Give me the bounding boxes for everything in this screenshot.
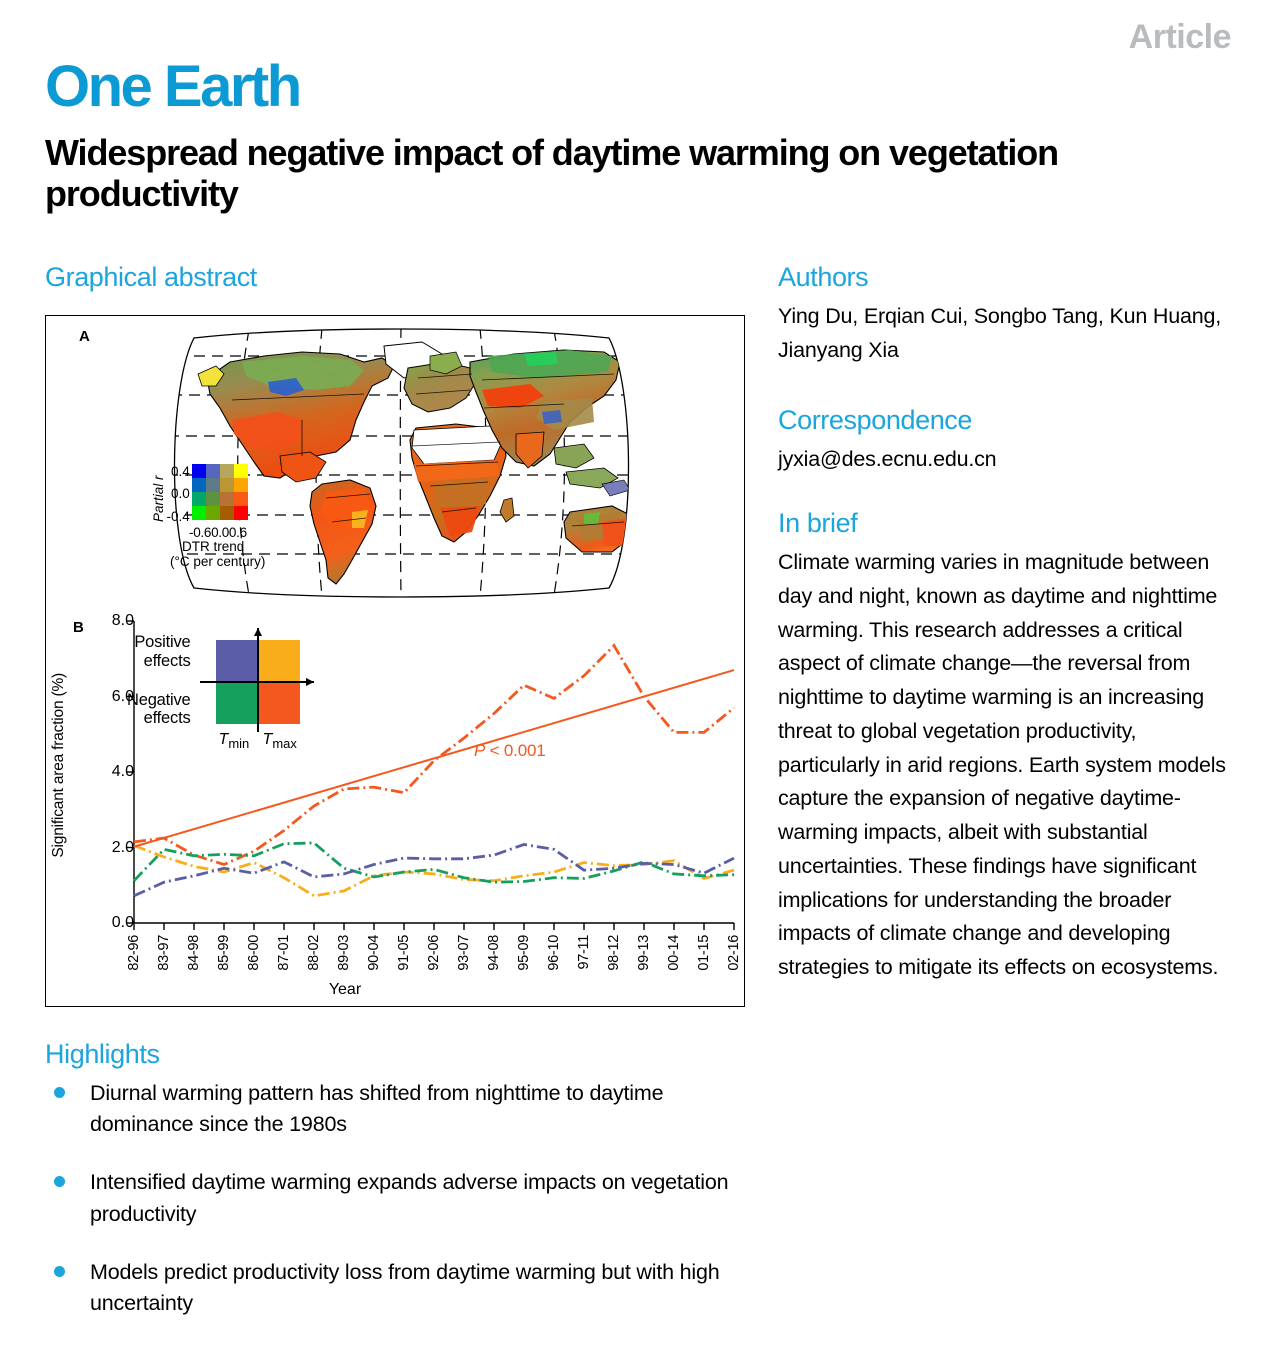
map-landmass-new-zealand [646, 550, 660, 570]
x-tick-label: 96-10 [546, 935, 562, 971]
section-heading-authors: Authors [778, 262, 868, 293]
legend-negative-line1: Negative [127, 691, 191, 709]
legend-cell-r0-c1 [206, 464, 220, 478]
arrow-right-icon [306, 678, 314, 686]
x-tick-label: 87-01 [276, 935, 292, 971]
legend-cell-r1-c3 [234, 478, 248, 492]
legend-x-ticks: -0.60.00.6 [189, 525, 342, 540]
bullet-icon [54, 1266, 65, 1277]
x-tick-label: 90-04 [366, 935, 382, 971]
in-brief-paragraph: Climate warming varies in magnitude betw… [778, 546, 1240, 985]
series-line [134, 844, 734, 895]
legend-cell-r0-c0 [192, 464, 206, 478]
section-heading-correspondence: Correspondence [778, 405, 972, 436]
legend-cell-r2-c1 [206, 492, 220, 506]
highlight-text: Intensified daytime warming expands adve… [90, 1170, 728, 1225]
swatch-tmin-positive [216, 640, 258, 682]
legend-tmax-label: Tmax [263, 731, 297, 751]
list-item: Models predict productivity loss from da… [45, 1257, 765, 1319]
legend-y-tick: 0.4 [167, 465, 190, 479]
legend-y-ticks: 0.4 0.0 -0.4 [167, 464, 190, 523]
legend-positive-line1: Positive [127, 633, 191, 651]
list-item: Intensified daytime warming expands adve… [45, 1167, 765, 1229]
x-tick-label: 95-09 [516, 935, 532, 971]
x-tick-label: 02-16 [726, 935, 742, 971]
x-tick-label: 85-99 [216, 935, 232, 971]
x-tick-label: 94-08 [486, 935, 502, 971]
legend-cell-r1-c0 [192, 478, 206, 492]
panel-a-world-map: Partial r 0.4 0.0 -0.4 -0.60.00.6 DTR tr… [64, 316, 724, 611]
section-heading-in-brief: In brief [778, 508, 857, 539]
map-region-tibet [542, 410, 562, 424]
map-region-australia-green [584, 512, 600, 524]
chart-x-axis-label: Year [0, 981, 694, 999]
swatch-tmax-positive [258, 640, 300, 682]
correspondence-email[interactable]: jyxia@des.ecnu.edu.cn [778, 443, 1240, 477]
chart-x-tickmarks [134, 923, 734, 930]
chart-quadrant-legend: Positive effects [126, 623, 319, 738]
section-heading-graphical-abstract: Graphical abstract [45, 262, 257, 293]
legend-caption-units: (°C per century) [170, 555, 342, 570]
highlights-list: Diurnal warming pattern has shifted from… [45, 1078, 765, 1346]
journal-name: One Earth [45, 58, 300, 116]
x-tick-label: 01-15 [696, 935, 712, 971]
x-tick-label: 89-03 [336, 935, 352, 971]
legend-cell-r3-c1 [206, 506, 220, 520]
legend-cell-r3-c0 [192, 506, 206, 520]
legend-cell-r1-c2 [220, 478, 234, 492]
legend-cell-r3-c2 [220, 506, 234, 520]
pvalue-threshold: < 0.001 [485, 741, 545, 760]
x-tick-label: 97-11 [576, 935, 592, 970]
highlight-text: Models predict productivity loss from da… [90, 1260, 719, 1315]
x-tick-label: 91-05 [396, 935, 412, 971]
legend-negative-line2: effects [127, 709, 191, 727]
legend-cell-r2-c3 [234, 492, 248, 506]
swatch-tmin-negative [216, 682, 258, 724]
x-tick-label: 98-12 [606, 935, 622, 971]
legend-cell-r1-c1 [206, 478, 220, 492]
swatch-tmax-negative [258, 682, 300, 724]
legend-cell-r0-c3 [234, 464, 248, 478]
legend-positive-line2: effects [127, 652, 191, 670]
highlight-text: Diurnal warming pattern has shifted from… [90, 1081, 663, 1136]
legend-cell-r2-c2 [220, 492, 234, 506]
article-type-label: Article [1129, 18, 1231, 57]
arrow-up-icon [254, 628, 262, 636]
x-tick-label: 93-07 [456, 935, 472, 971]
pvalue-symbol: P [474, 741, 485, 760]
x-tick-label: 86-00 [246, 935, 262, 971]
map-region-australia-east [602, 518, 628, 546]
legend-y-axis-label: Partial r [152, 464, 166, 524]
bullet-icon [54, 1087, 65, 1098]
y-tick-label: 4.0 [94, 763, 134, 781]
list-item: Diurnal warming pattern has shifted from… [45, 1078, 765, 1140]
legend-tmin-label: Tmin [219, 731, 250, 751]
x-tick-label: 83-97 [156, 935, 172, 971]
x-tick-label: 84-98 [186, 935, 202, 971]
x-tick-label: 99-13 [636, 935, 652, 971]
legend-y-tick: 0.0 [167, 487, 190, 501]
map-bivariate-legend: Partial r 0.4 0.0 -0.4 -0.60.00.6 DTR tr… [152, 464, 342, 569]
x-tick-label: 88-02 [306, 935, 322, 971]
x-tick-label: 92-06 [426, 935, 442, 971]
y-tick-label: 2.0 [94, 839, 134, 857]
quadrant-legend-swatches [198, 624, 318, 732]
x-tick-label: 00-14 [666, 935, 682, 971]
legend-cell-r3-c3 [234, 506, 248, 520]
graphical-abstract-figure: A B [45, 315, 745, 1007]
panel-b-line-chart: Significant area fraction (%) 0.02.04.06… [46, 611, 744, 1006]
y-tick-label: 0.0 [94, 914, 134, 932]
chart-y-axis-label: Significant area fraction (%) [50, 673, 68, 858]
legend-cell-r0-c2 [220, 464, 234, 478]
legend-cell-r2-c0 [192, 492, 206, 506]
page-title: Widespread negative impact of daytime wa… [45, 132, 1235, 214]
legend-color-matrix [192, 464, 248, 520]
legend-caption-dtr: DTR trend [182, 540, 342, 555]
legend-y-tick: -0.4 [167, 510, 190, 524]
map-region-siberia-bright [524, 352, 558, 366]
authors-list: Ying Du, Erqian Cui, Songbo Tang, Kun Hu… [778, 300, 1240, 368]
x-tick-label: 82-96 [126, 935, 142, 971]
bullet-icon [54, 1176, 65, 1187]
graphical-abstract-page: Article One Earth Widespread negative im… [0, 0, 1271, 1329]
section-heading-highlights: Highlights [45, 1039, 160, 1070]
chart-pvalue-annotation: P < 0.001 [474, 741, 545, 761]
